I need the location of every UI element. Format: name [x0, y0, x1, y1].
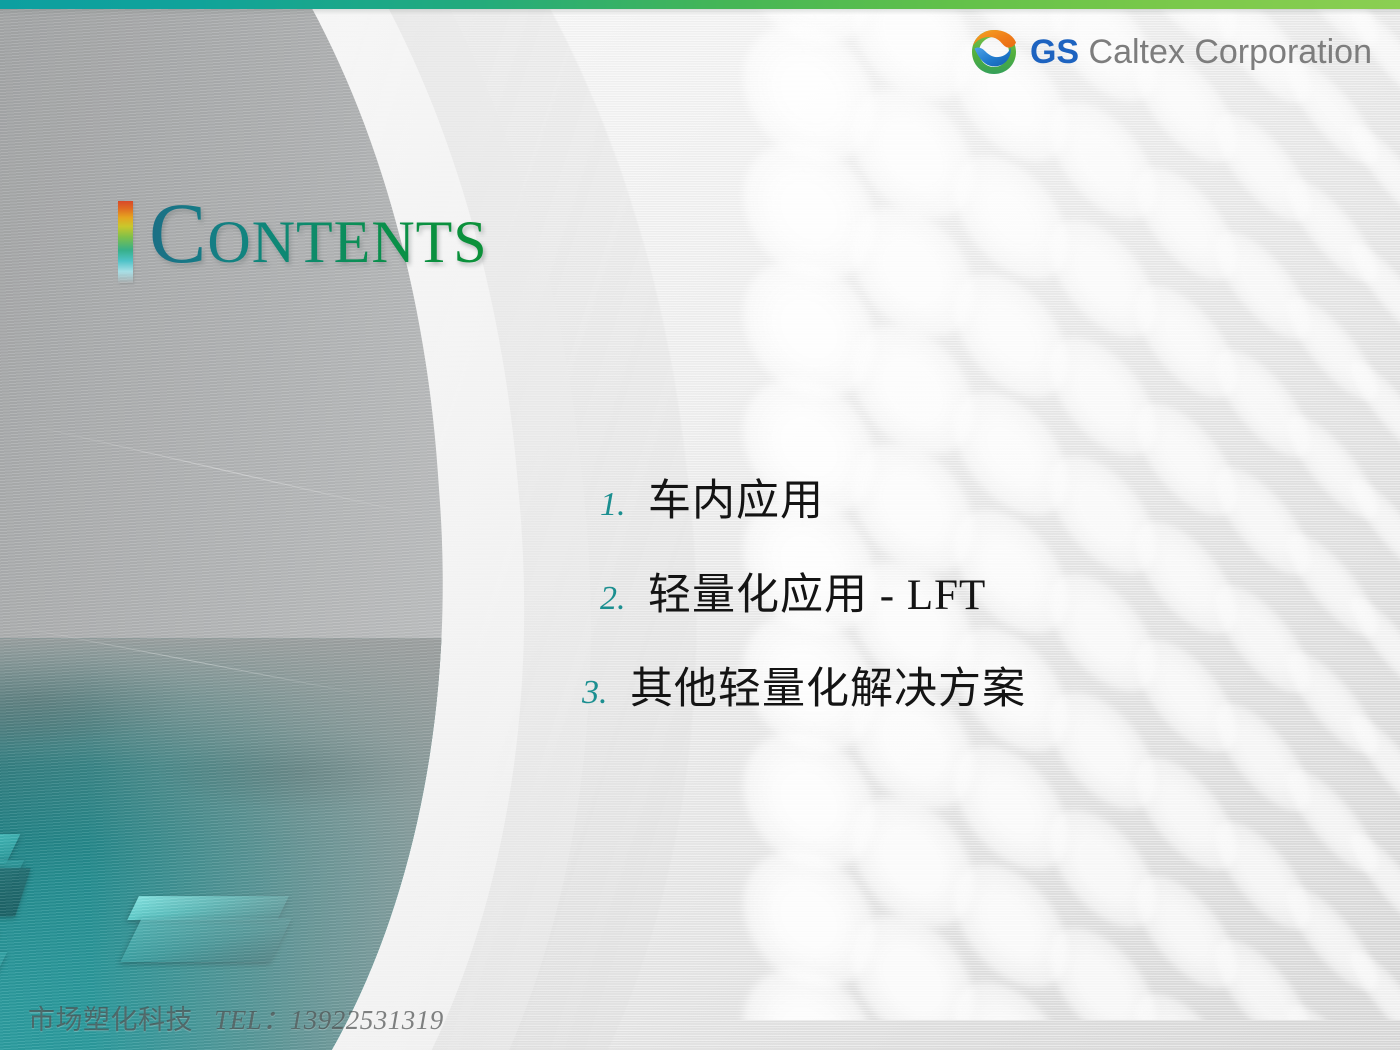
- title-accent-bar-icon: [118, 201, 133, 283]
- contents-list: 1. 车内应用 2. 轻量化应用 - LFT 3. 其他轻量化解决方案: [600, 466, 1320, 748]
- list-item-label: 车内应用: [648, 466, 824, 528]
- list-item[interactable]: 2. 轻量化应用 - LFT: [600, 560, 1320, 622]
- brand-gs-text: GS: [1030, 33, 1079, 71]
- watermark-company: 市场塑化科技: [28, 1005, 193, 1035]
- list-item-number: 2.: [600, 580, 648, 618]
- brand-logo[interactable]: GS Caltex Corporation: [968, 26, 1372, 78]
- list-item-number: 3.: [582, 674, 630, 712]
- list-item[interactable]: 3. 其他轻量化解决方案: [600, 654, 1320, 716]
- list-item[interactable]: 1. 车内应用: [600, 466, 1320, 528]
- page-title: Contents: [149, 193, 488, 275]
- watermark-tel-number: 13922531319: [290, 1005, 444, 1035]
- gs-caltex-logo-icon: [968, 26, 1020, 78]
- page-title-block: Contents: [118, 193, 488, 283]
- footer-watermark: 市场塑化科技 TEL：13922531319: [28, 998, 444, 1037]
- list-item-number: 1.: [600, 486, 648, 524]
- top-accent-bar-shadow: [0, 9, 1400, 15]
- list-item-label: 其他轻量化解决方案: [630, 654, 1026, 716]
- brand-wordmark: GS Caltex Corporation: [1030, 35, 1372, 69]
- list-item-label: 轻量化应用 - LFT: [648, 560, 986, 622]
- watermark-tel-label: TEL：: [214, 1005, 290, 1035]
- brand-caltex-text: Caltex Corporation: [1089, 33, 1372, 71]
- top-accent-bar: [0, 0, 1400, 9]
- presentation-slide: GS Caltex Corporation Contents 1. 车内应用 2…: [0, 0, 1400, 1050]
